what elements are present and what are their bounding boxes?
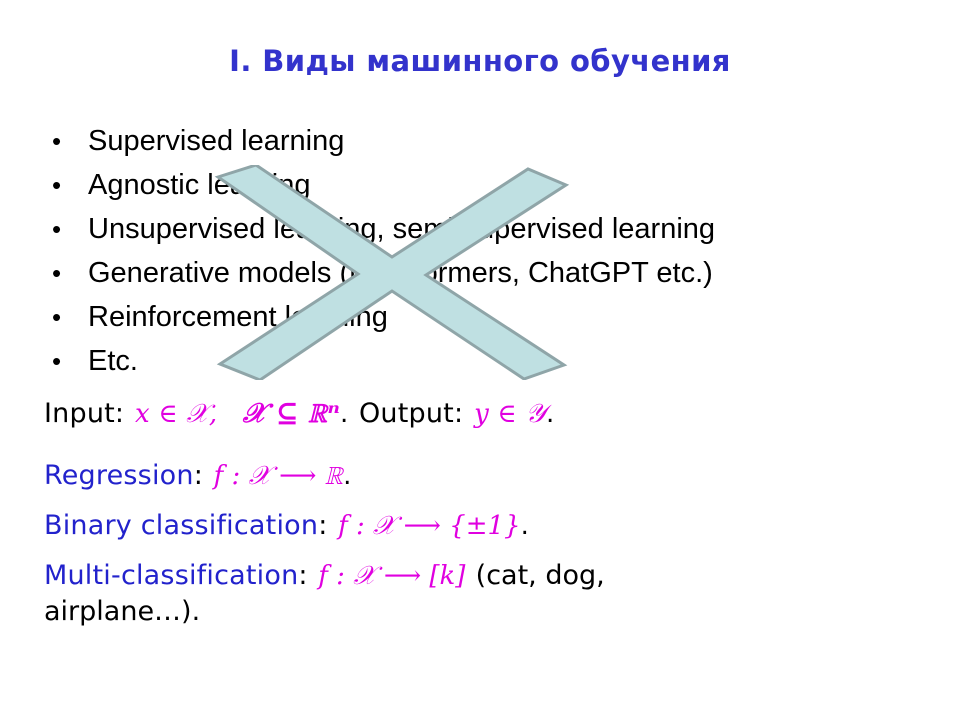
bullet-icon: • <box>52 119 61 163</box>
list-item: • Etc. <box>44 339 944 383</box>
page-title: I. Виды машинного обучения <box>0 44 960 78</box>
regression-math: f : 𝒳 ⟶ ℝ. <box>212 461 354 491</box>
bullet-icon: • <box>52 339 61 383</box>
regression-colon: : <box>194 460 203 491</box>
input-label: Input: <box>44 398 124 429</box>
multi-examples-continuation: airplane…). <box>44 596 200 627</box>
regression-label: Regression <box>44 460 194 491</box>
list-item: • Supervised learning <box>44 119 944 163</box>
output-domain-math: y ∈ 𝒴. <box>472 399 556 429</box>
ml-types-list: • Supervised learning • Agnostic learnin… <box>44 119 944 383</box>
binary-classification-label: Binary classification <box>44 510 318 541</box>
bullet-icon: • <box>52 207 61 251</box>
list-item-label: Etc. <box>88 345 138 377</box>
list-item-label: Reinforcement learning <box>88 301 388 333</box>
list-item: • Generative models (transformers, ChatG… <box>44 251 944 295</box>
multi-classification-label: Multi-classification <box>44 560 298 591</box>
bullet-icon: • <box>52 295 61 339</box>
list-item-label: Generative models (transformers, ChatGPT… <box>88 257 713 289</box>
definition-line-multi-continuation: airplane…). <box>44 596 954 627</box>
list-item: • Unsupervised learning, semi-supervised… <box>44 207 944 251</box>
bullet-icon: • <box>52 163 61 207</box>
multi-colon: : <box>298 560 307 591</box>
binary-colon: : <box>318 510 327 541</box>
definitions-block: Input: x ∈ 𝒳, 𝒳 ⊆ ℝⁿ. Output: y ∈ 𝒴. Reg… <box>44 398 954 634</box>
list-item-label: Agnostic learning <box>88 169 310 201</box>
slide-canvas: I. Виды машинного обучения • Supervised … <box>0 0 960 720</box>
list-item: • Reinforcement learning <box>44 295 944 339</box>
definition-line-regression: Regression: f : 𝒳 ⟶ ℝ. <box>44 460 954 492</box>
definition-line-input: Input: x ∈ 𝒳, 𝒳 ⊆ ℝⁿ. Output: y ∈ 𝒴. <box>44 398 954 430</box>
list-item: • Agnostic learning <box>44 163 944 207</box>
multi-classification-math: f : 𝒳 ⟶ [k] <box>316 561 475 591</box>
multi-examples: (cat, dog, <box>476 560 605 591</box>
binary-classification-math: f : 𝒳 ⟶ {±1}. <box>336 511 531 541</box>
bullet-icon: • <box>52 251 61 295</box>
input-domain-math: x ∈ 𝒳, 𝒳 ⊆ ℝⁿ. <box>133 399 359 429</box>
definition-line-binary: Binary classification: f : 𝒳 ⟶ {±1}. <box>44 510 954 542</box>
output-label: Output: <box>359 398 463 429</box>
definition-line-multi: Multi-classification: f : 𝒳 ⟶ [k] (cat, … <box>44 560 954 592</box>
list-item-label: Unsupervised learning, semi-supervised l… <box>88 213 715 245</box>
list-item-label: Supervised learning <box>88 125 344 157</box>
